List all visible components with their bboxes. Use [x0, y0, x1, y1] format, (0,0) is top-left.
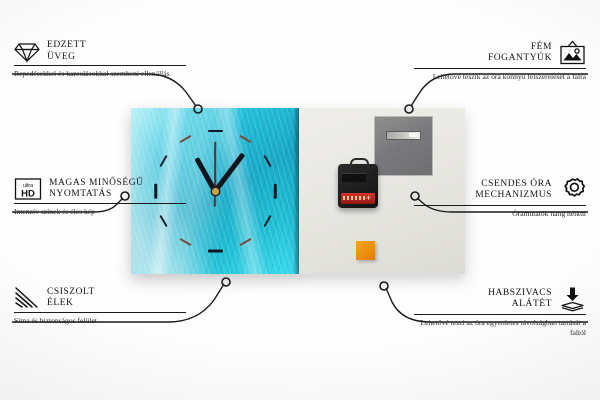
callout-title: EDZETT: [47, 40, 86, 52]
svg-text:HD: HD: [21, 189, 35, 200]
mechanism-hanging-loop: [350, 158, 369, 169]
mechanism-slot: [342, 173, 366, 182]
callout-description: Lehetővé teszi az óra egyenletes távolsá…: [414, 315, 586, 337]
clock-tick-12: [208, 130, 223, 133]
leader-dot-csiszolt-elek: [222, 278, 230, 286]
clock-tick-10: [159, 154, 167, 166]
clock-second-hand: [214, 142, 216, 191]
hanger-keyhole-slot: [386, 131, 421, 140]
callout-title-second-line: ÜVEG: [47, 52, 86, 64]
metal-hanger-plate: [374, 116, 433, 176]
ultra-hd-icon: ultra HD: [14, 177, 42, 201]
foam-spacer-pad: [356, 241, 375, 260]
clock-tick-2: [263, 154, 271, 166]
clock-tick-11: [179, 134, 191, 142]
callout-title-second-line: NYOMTATÁS: [49, 189, 144, 201]
clock-tick-1: [239, 134, 251, 142]
callout-habszivacs-alatet: HABSZIVACS ALÁTÉT Lehetővé teszi az óra …: [414, 286, 586, 337]
clock-tick-6: [208, 250, 223, 253]
picture-hanger-icon: [559, 40, 586, 66]
callout-description: Lehetővé teszik az óra könnyű felszerelé…: [414, 69, 586, 82]
callout-title-second-line: ÉLEK: [47, 298, 95, 310]
leader-line-edzett-uveg: [12, 74, 196, 106]
callout-magas-minosegu-nyomtatas: ultra HD MAGAS MINŐSÉGŰ NYOMTATÁS Intenz…: [14, 177, 186, 217]
clock-center-hub: [212, 188, 219, 195]
clock-tick-7: [179, 238, 191, 246]
infographic-canvas: +: [0, 0, 600, 400]
clock-minute-hand: [213, 152, 245, 193]
leader-dot-habszivacs: [380, 282, 388, 290]
callout-title: CSISZOLT: [47, 287, 95, 299]
battery: +: [341, 193, 375, 204]
diamond-icon: [14, 41, 40, 63]
callout-title: MAGAS MINŐSÉGŰ: [49, 178, 144, 190]
foam-pad-icon: [559, 286, 586, 312]
callout-title-second-line: MECHANIZMUS: [475, 190, 552, 202]
clock-mechanism: +: [338, 164, 378, 208]
battery-label-stripes: [343, 196, 365, 200]
clock-tick-3: [274, 183, 277, 198]
clock-tick-4: [263, 214, 271, 226]
callout-title-second-line: ALÁTÉT: [488, 299, 552, 311]
callout-edzett-uveg: EDZETT ÜVEG Repedésekkel és karcolásokka…: [14, 40, 186, 79]
callout-title: CSENDES ÓRA: [475, 179, 552, 191]
callout-csendes-ora-mechanizmus: CSENDES ÓRA MECHANIZMUS Óramutatók hang …: [414, 177, 586, 219]
callout-description: Sima és biztonságos felület: [14, 313, 186, 326]
callout-title: HABSZIVACS: [488, 288, 552, 300]
callout-csiszolt-elek: CSISZOLT ÉLEK Sima és biztonságos felüle…: [14, 286, 186, 326]
battery-plus-terminal: +: [365, 195, 372, 202]
gear-icon: [559, 177, 586, 203]
clock-tick-5: [239, 238, 251, 246]
callout-description: Intenzív színek és éles kép: [14, 204, 186, 217]
callout-title-second-line: FOGANTYÚK: [488, 53, 552, 65]
callout-description: Repedésekkel és karcolásokkal szembeni e…: [14, 66, 186, 79]
callout-description: Óramutatók hang nélkül: [414, 206, 586, 219]
callout-fem-fogantyuk: FÉM FOGANTYÚK Lehetővé teszik az óra kön…: [414, 40, 586, 82]
beveled-edge-icon: [14, 286, 40, 310]
callout-title: FÉM: [488, 42, 552, 54]
